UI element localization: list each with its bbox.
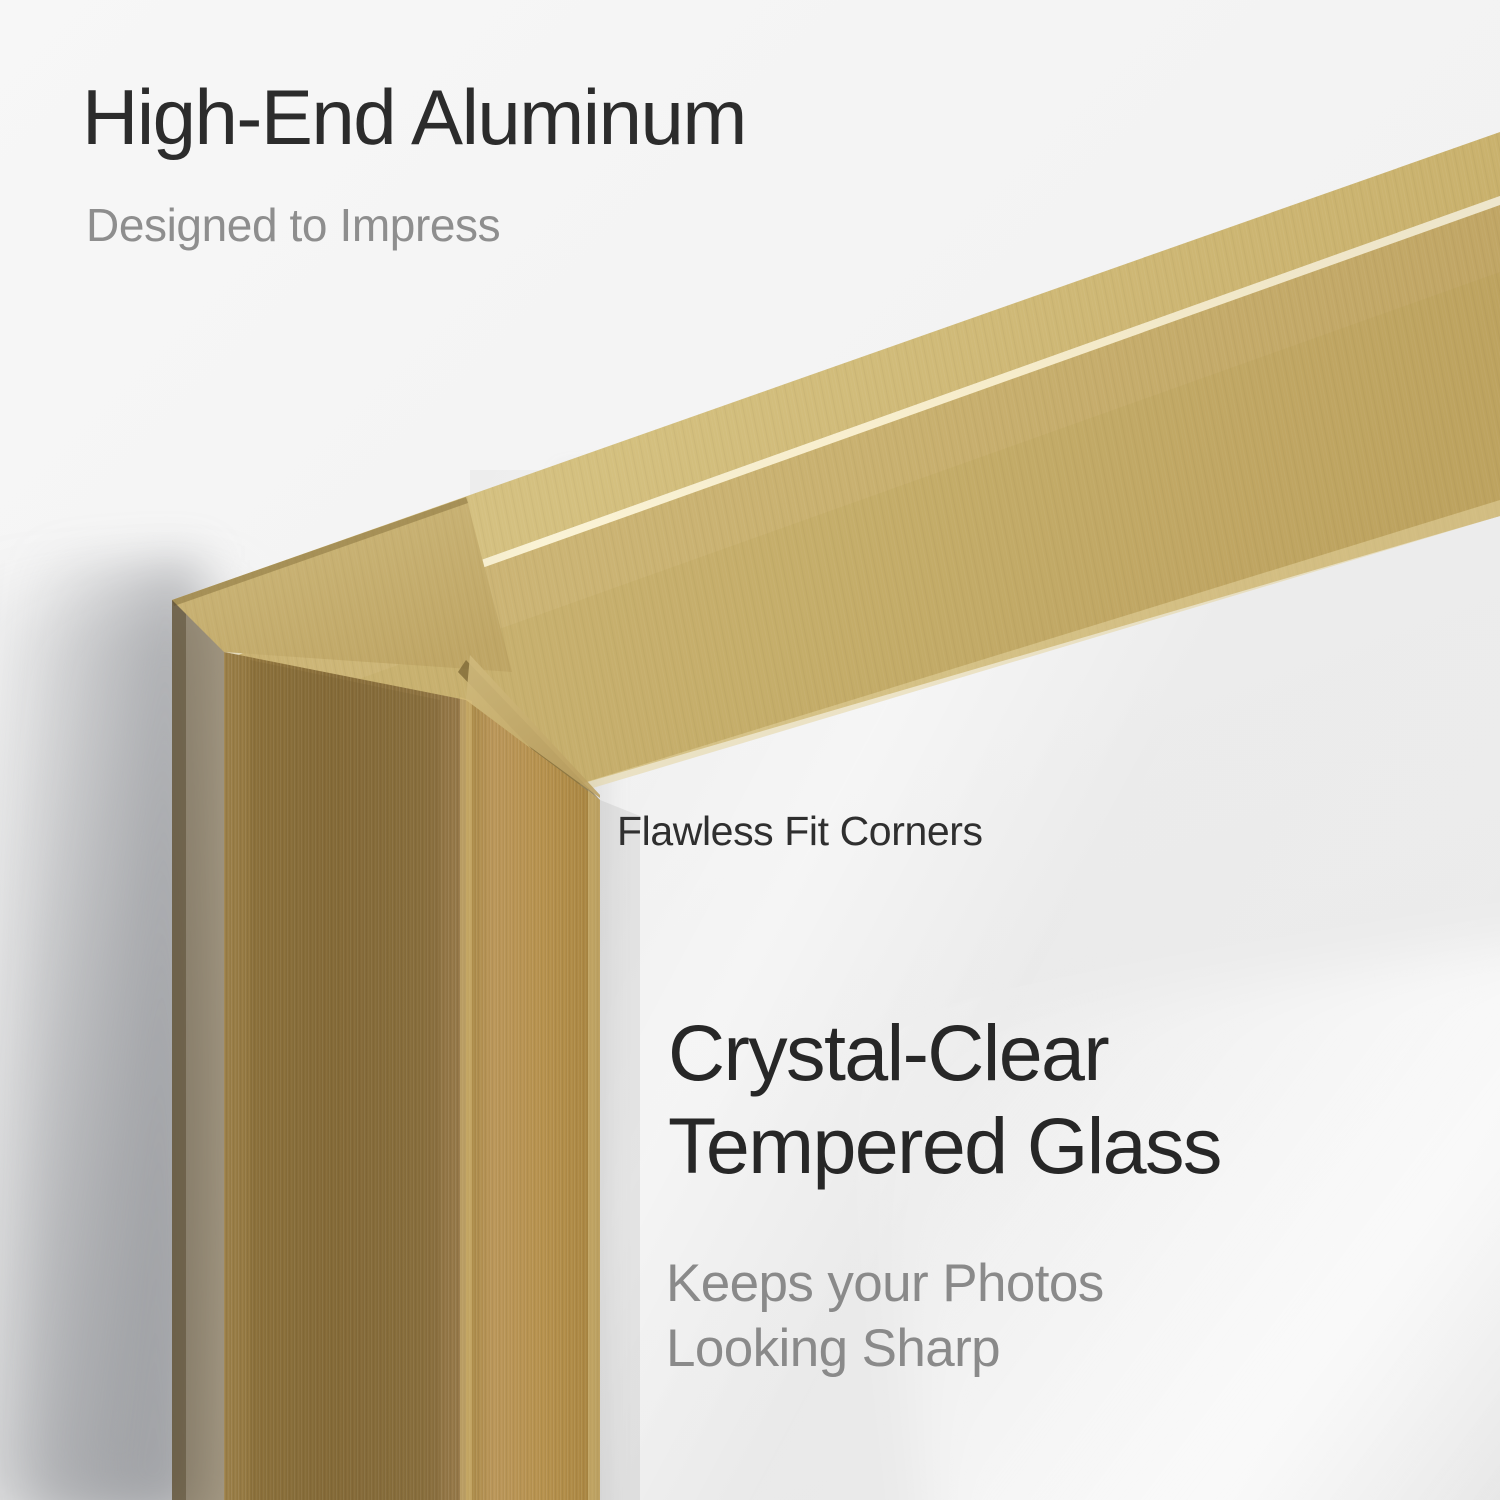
- callout-glass-subtitle-line-2: Looking Sharp: [666, 1317, 1104, 1382]
- page-subtitle: Designed to Impress: [86, 198, 500, 252]
- callout-glass-subtitle: Keeps your Photos Looking Sharp: [666, 1252, 1104, 1381]
- callout-glass-subtitle-line-1: Keeps your Photos: [666, 1252, 1104, 1317]
- callout-flawless-fit-corners: Flawless Fit Corners: [617, 808, 983, 855]
- page-title: High-End Aluminum: [82, 72, 746, 163]
- product-marketing-image: High-End Aluminum Designed to Impress Fl…: [0, 0, 1500, 1500]
- callout-glass-title-line-2: Tempered Glass: [668, 1099, 1221, 1192]
- callout-glass-title-line-1: Crystal-Clear: [668, 1006, 1221, 1099]
- callout-glass-title: Crystal-Clear Tempered Glass: [668, 1006, 1221, 1192]
